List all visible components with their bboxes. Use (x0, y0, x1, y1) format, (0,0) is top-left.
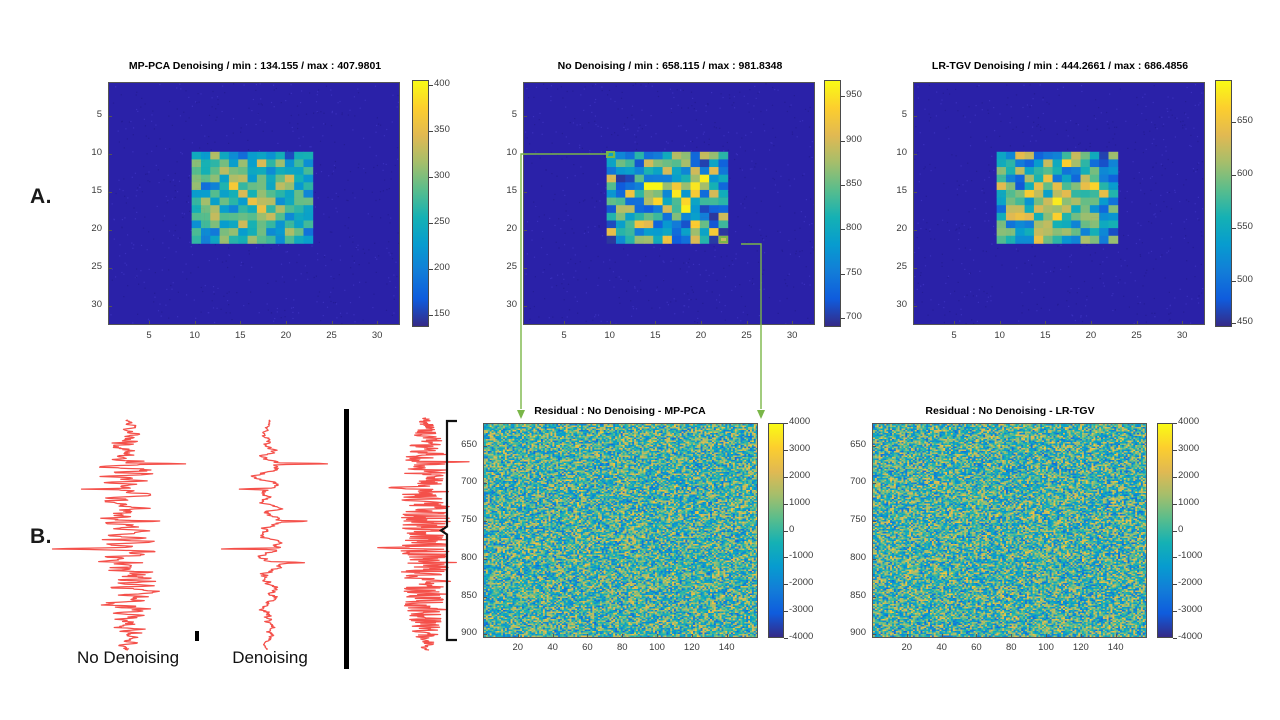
residual-axes-residual-no-denoising-mp-pca[interactable] (483, 423, 758, 638)
connector-top-left (521, 154, 609, 409)
residual-axes-residual-no-denoising-lr-tgv[interactable] (872, 423, 1147, 638)
panel-b-divider (344, 409, 349, 669)
spectrum-scale-tick (195, 631, 199, 641)
spectrum-stack (395, 418, 457, 650)
spectrum-denoising-trace (222, 420, 328, 650)
connector-bottom-right (741, 244, 761, 409)
figure-canvas: A.B.MP-PCA Denoising / min : 134.155 / m… (0, 0, 1280, 720)
spectrum-label-denoising: Denoising (205, 648, 335, 668)
spectrum-label-no-denoising: No Denoising (58, 648, 198, 668)
spectrum-denoising (218, 420, 318, 650)
arrowhead-bottom-right (757, 410, 765, 419)
spectrum-no-denoising (78, 420, 178, 650)
arrowhead-top-left (517, 410, 525, 419)
